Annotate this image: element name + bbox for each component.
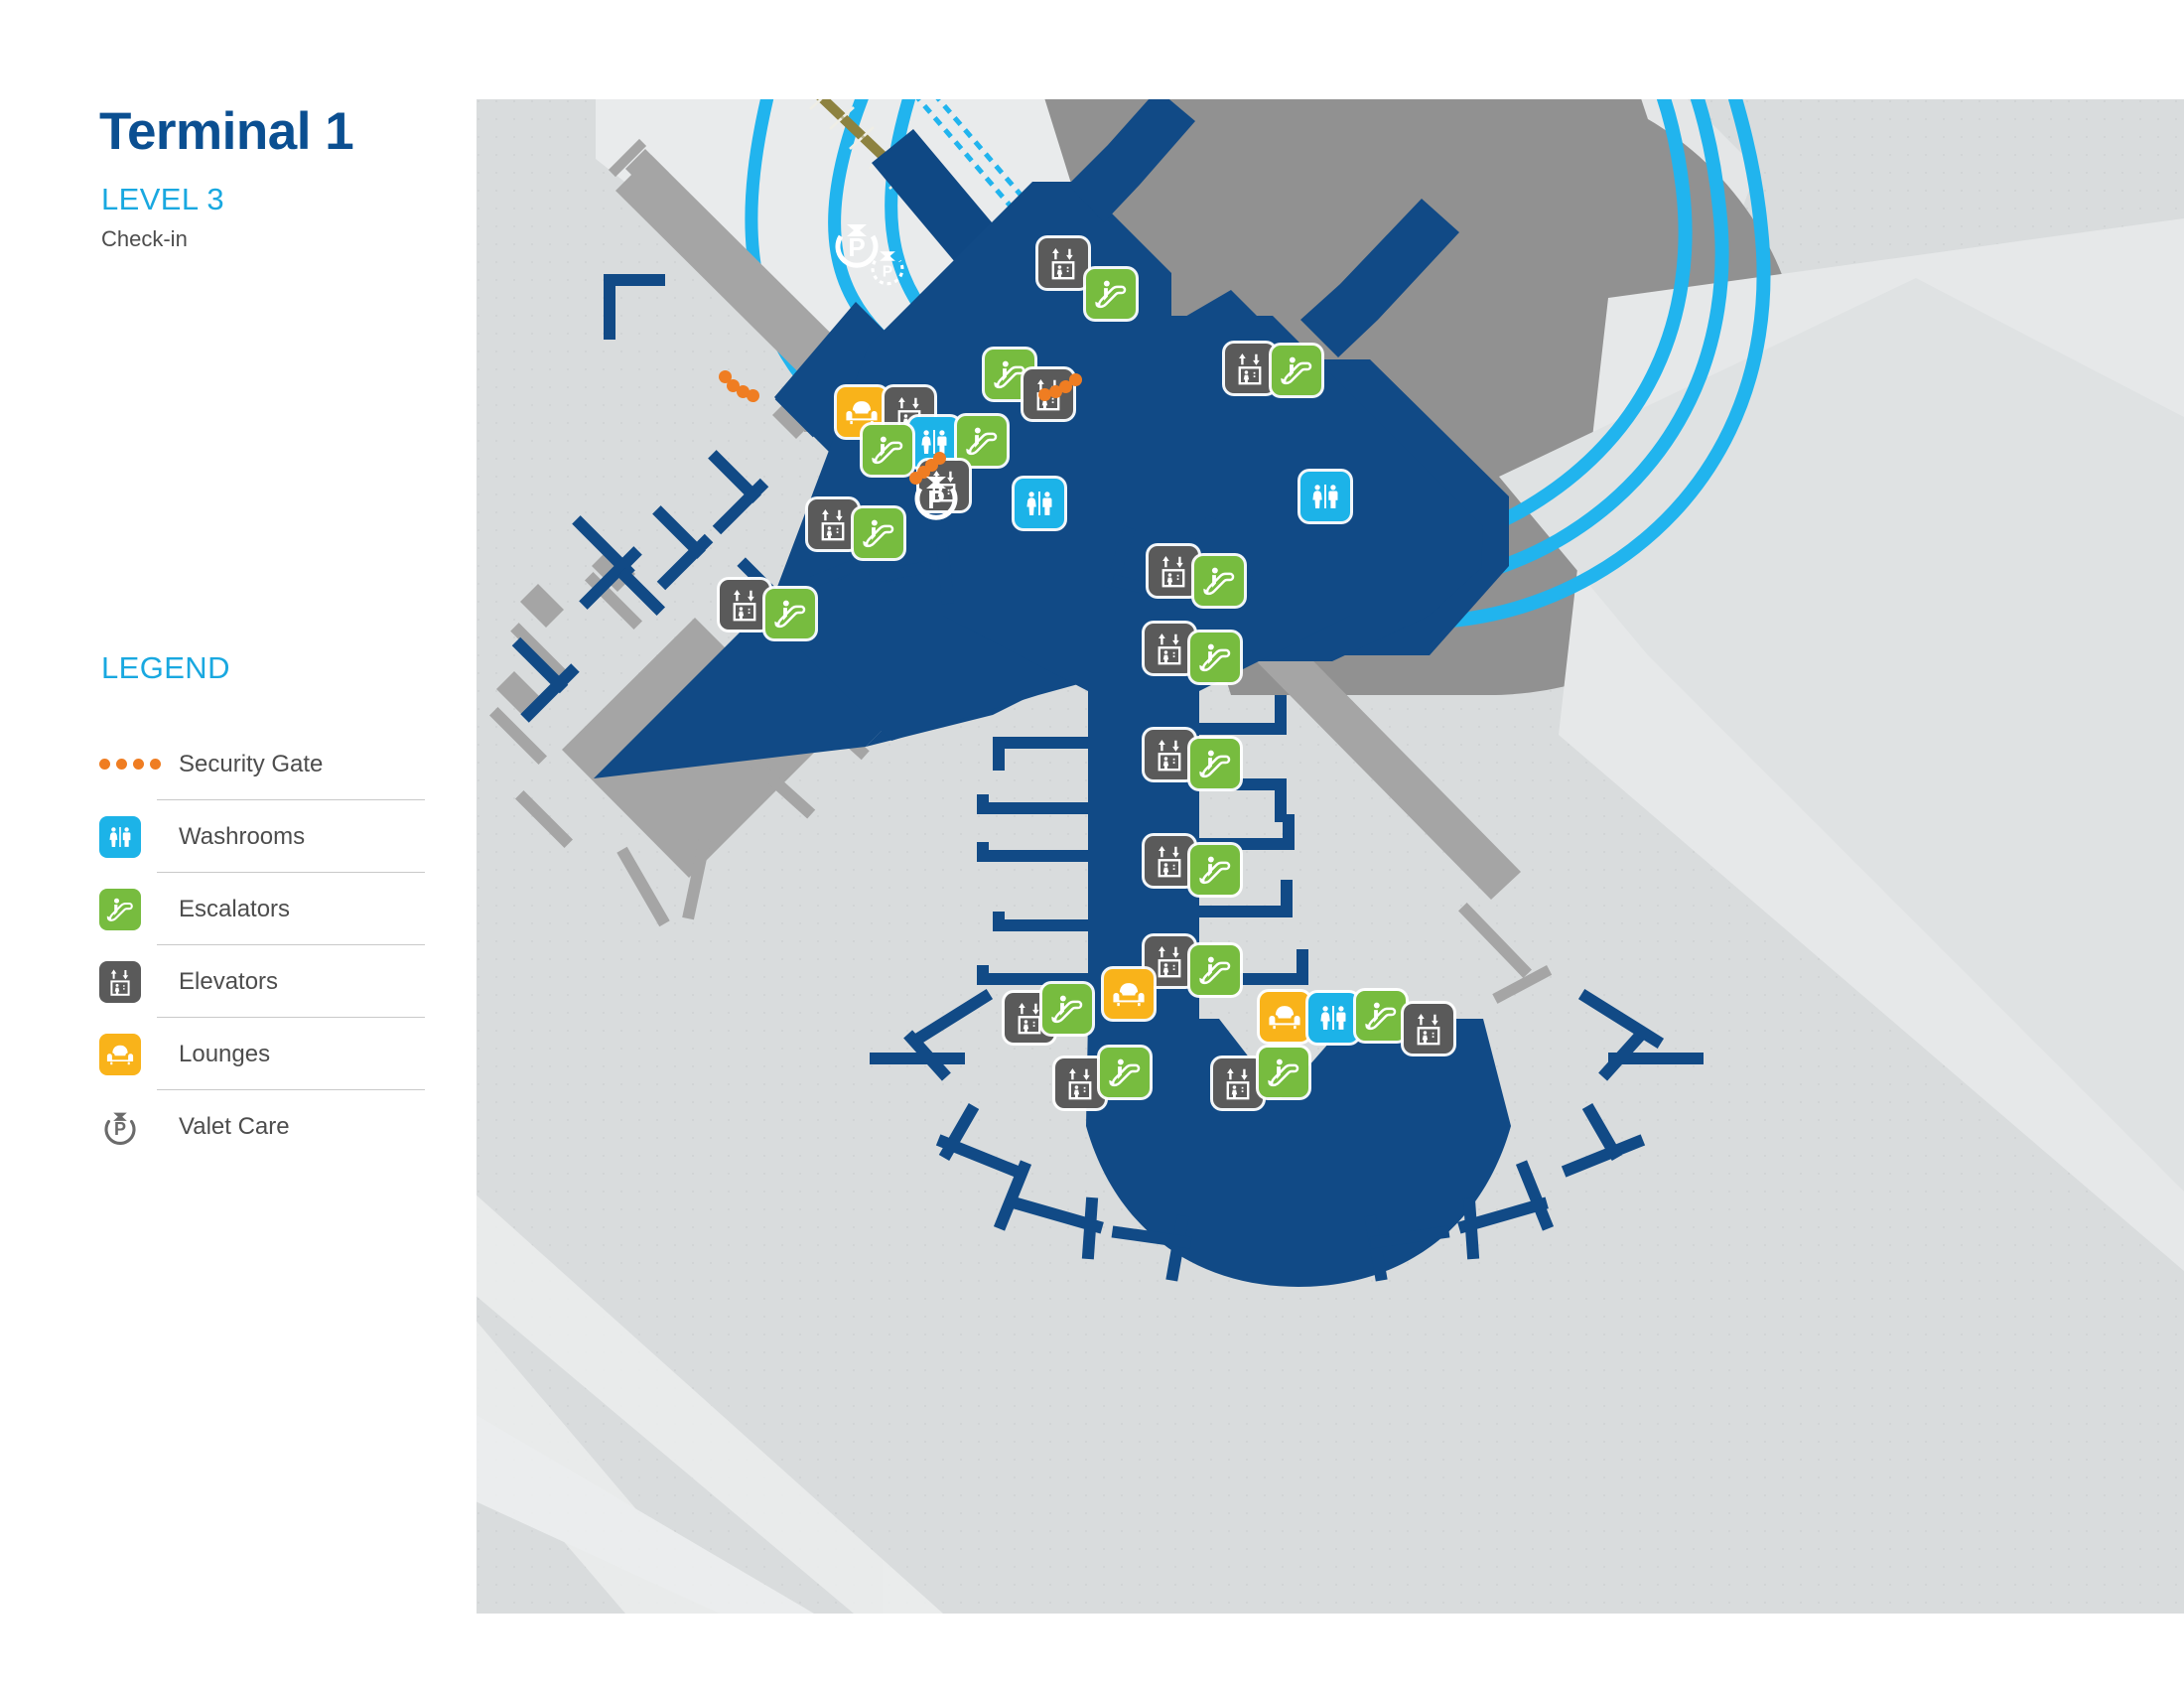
level-label: LEVEL 3 [101,182,353,217]
security-gate-dots-icon [99,759,159,770]
escalator-northwest-hall-icon[interactable] [957,416,1007,466]
legend-item-label: Elevators [159,968,278,996]
elevator-west-pier-end-icon[interactable] [720,580,769,630]
washrooms-icon [99,816,159,858]
escalator-south-lower-east-icon[interactable] [1259,1048,1308,1097]
escalator-south-west-outer-icon[interactable] [1042,984,1092,1034]
elevator-corridor-1-icon[interactable] [1149,546,1198,596]
legend-item-label: Security Gate [159,751,323,778]
escalators-icon [99,889,159,930]
legend: LEGEND Security Gate [99,650,407,1163]
escalator-corridor-3-icon[interactable] [1190,739,1240,788]
legend-item-washrooms: Washrooms [99,800,407,873]
elevator-south-lower-west-icon[interactable] [1055,1058,1105,1108]
elevators-icon [99,961,159,1003]
lounge-south-east-icon[interactable] [1260,992,1309,1042]
lounges-icon [99,1034,159,1075]
svg-text:P: P [848,232,865,262]
legend-item-escalators: Escalators [99,873,407,945]
escalator-west-pier-mid-icon[interactable] [854,508,903,558]
valet-care-north-dashed: P [866,245,909,289]
washroom-south-east-icon[interactable] [1308,993,1358,1043]
escalator-south-east-icon[interactable] [1356,991,1406,1041]
elevator-south-lower-east-icon[interactable] [1213,1058,1263,1108]
elevator-south-east-outer-icon[interactable] [1404,1004,1453,1054]
legend-item-lounges: Lounges [99,1018,407,1090]
escalator-corridor-4-icon[interactable] [1190,845,1240,895]
security-gate-dot [933,452,946,465]
washroom-east-hall-icon[interactable] [1300,472,1350,521]
legend-item-label: Lounges [159,1041,270,1068]
escalator-corridor-5-icon[interactable] [1190,945,1240,995]
legend-item-elevators: Elevators [99,945,407,1018]
level-sublabel: Check-in [101,226,353,252]
elevator-corridor-4-icon[interactable] [1145,836,1194,886]
escalator-northwest-pier-icon[interactable] [863,425,912,475]
security-gate-dot [1069,373,1082,386]
terminal-map[interactable]: PPP [477,99,2184,1614]
escalator-south-lower-west-icon[interactable] [1100,1048,1150,1097]
elevator-corridor-2-icon[interactable] [1145,624,1194,673]
svg-text:P: P [883,263,892,280]
elevator-corridor-3-icon[interactable] [1145,730,1194,779]
valet-care-central: P [908,469,964,524]
valet-care-icon: P [99,1106,159,1148]
sidebar: Terminal 1 LEVEL 3 Check-in LEGEND Secur… [0,0,477,1688]
legend-item-label: Escalators [159,896,290,923]
legend-title: LEGEND [101,650,407,686]
legend-item-label: Valet Care [159,1113,290,1141]
escalator-corridor-2-icon[interactable] [1190,633,1240,682]
escalator-corridor-1-icon[interactable] [1194,556,1244,606]
legend-item-security-gate: Security Gate [99,728,407,800]
legend-item-label: Washrooms [159,823,305,851]
escalator-north-curbside-icon[interactable] [1086,269,1136,319]
title-block: Terminal 1 LEVEL 3 Check-in [99,104,353,252]
escalator-west-pier-end-icon[interactable] [765,589,815,638]
escalator-north-hall-east-icon[interactable] [1272,346,1321,395]
washroom-central-west-icon[interactable] [1015,479,1064,528]
security-gate-dot [747,389,759,402]
map-geometry [477,99,2184,1614]
legend-item-valet-care: P Valet Care [99,1090,407,1163]
elevator-west-pier-mid-icon[interactable] [808,499,858,549]
svg-text:P: P [927,485,944,514]
lounge-south-west-icon[interactable] [1104,969,1154,1019]
svg-text:P: P [114,1119,126,1139]
elevator-north-curbside-icon[interactable] [1038,238,1088,288]
elevator-north-hall-east-icon[interactable] [1225,344,1275,393]
page-title: Terminal 1 [99,104,353,160]
